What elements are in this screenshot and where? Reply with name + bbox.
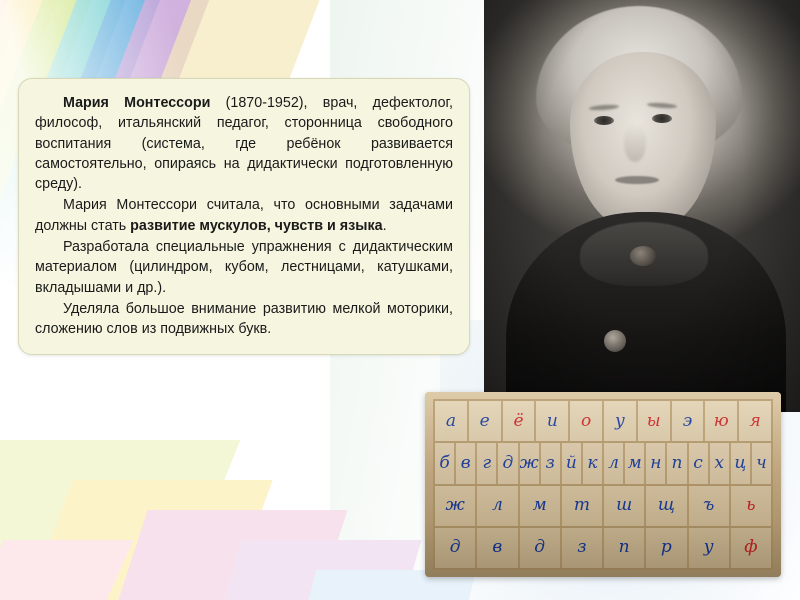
tray-row: бвгджзйклмнпсхцч bbox=[435, 443, 771, 485]
letter-cell: щ bbox=[646, 486, 688, 526]
letter-cell: ц bbox=[731, 443, 752, 483]
letter-cell: т bbox=[562, 486, 604, 526]
callout-text: Разработала специальные упражнения с дид… bbox=[35, 239, 453, 296]
portrait-photo-montessori bbox=[484, 0, 800, 412]
tray-row: двдзпруф bbox=[435, 528, 771, 568]
letter-cell: б bbox=[435, 443, 456, 483]
letter-cell: ы bbox=[638, 401, 672, 441]
callout-paragraph: Мария Монтессори (1870-1952), врач, дефе… bbox=[35, 93, 453, 194]
letter-cell: д bbox=[498, 443, 519, 483]
letter-cell: д bbox=[435, 528, 477, 568]
letter-cell: н bbox=[646, 443, 667, 483]
letter-cell: а bbox=[435, 401, 469, 441]
callout-paragraph: Мария Монтессори считала, что основными … bbox=[35, 195, 453, 236]
letter-cell: р bbox=[646, 528, 688, 568]
portrait-vignette bbox=[484, 0, 800, 412]
letter-cell: л bbox=[604, 443, 625, 483]
letter-cell: ж bbox=[435, 486, 477, 526]
callout-text: . bbox=[383, 218, 387, 234]
letter-cell: ъ bbox=[689, 486, 731, 526]
letter-cell: г bbox=[477, 443, 498, 483]
letter-cell: в bbox=[456, 443, 477, 483]
letter-cell: й bbox=[562, 443, 583, 483]
letter-cell: ж bbox=[520, 443, 541, 483]
letter-cell: с bbox=[689, 443, 710, 483]
letter-cell: п bbox=[604, 528, 646, 568]
letter-cell: я bbox=[739, 401, 771, 441]
letter-cell: ь bbox=[731, 486, 771, 526]
text-callout: Мария Монтессори (1870-1952), врач, дефе… bbox=[18, 78, 470, 355]
letter-cell: ш bbox=[604, 486, 646, 526]
slide-canvas: Мария Монтессори (1870-1952), врач, дефе… bbox=[0, 0, 800, 600]
letter-cell: з bbox=[562, 528, 604, 568]
letter-cell: з bbox=[541, 443, 562, 483]
callout-paragraph: Уделяла большое внимание развитию мелкой… bbox=[35, 299, 453, 340]
callout-text-bold: Мария Монтессори bbox=[63, 95, 210, 111]
letter-cell: у bbox=[689, 528, 731, 568]
letter-cell: м bbox=[520, 486, 562, 526]
letter-cell: и bbox=[536, 401, 570, 441]
letter-cell: д bbox=[520, 528, 562, 568]
letter-cell: к bbox=[583, 443, 604, 483]
letter-cell: в bbox=[477, 528, 519, 568]
letter-cell: у bbox=[604, 401, 638, 441]
letter-cell: о bbox=[570, 401, 604, 441]
letter-cell: ю bbox=[705, 401, 739, 441]
letters-tray-photo: аеёиоуыэюябвгджзйклмнпсхцчжлмтшщъьдвдзпр… bbox=[425, 392, 781, 577]
tray-compartments: аеёиоуыэюябвгджзйклмнпсхцчжлмтшщъьдвдзпр… bbox=[433, 399, 773, 570]
callout-text-bold: развитие мускулов, чувств и языка bbox=[130, 218, 382, 234]
letter-cell: ч bbox=[752, 443, 771, 483]
letter-cell: л bbox=[477, 486, 519, 526]
callout-paragraph: Разработала специальные упражнения с дид… bbox=[35, 237, 453, 298]
tray-row: жлмтшщъь bbox=[435, 486, 771, 528]
callout-text: Уделяла большое внимание развитию мелкой… bbox=[35, 301, 453, 337]
letter-cell: е bbox=[469, 401, 503, 441]
letter-cell: п bbox=[667, 443, 688, 483]
callout-body: Мария Монтессори (1870-1952), врач, дефе… bbox=[35, 93, 453, 340]
letter-cell: э bbox=[672, 401, 706, 441]
letter-cell: ф bbox=[731, 528, 771, 568]
letter-cell: ё bbox=[503, 401, 537, 441]
letter-cell: м bbox=[625, 443, 646, 483]
letter-cell: х bbox=[710, 443, 731, 483]
tray-row: аеёиоуыэюя bbox=[435, 401, 771, 443]
